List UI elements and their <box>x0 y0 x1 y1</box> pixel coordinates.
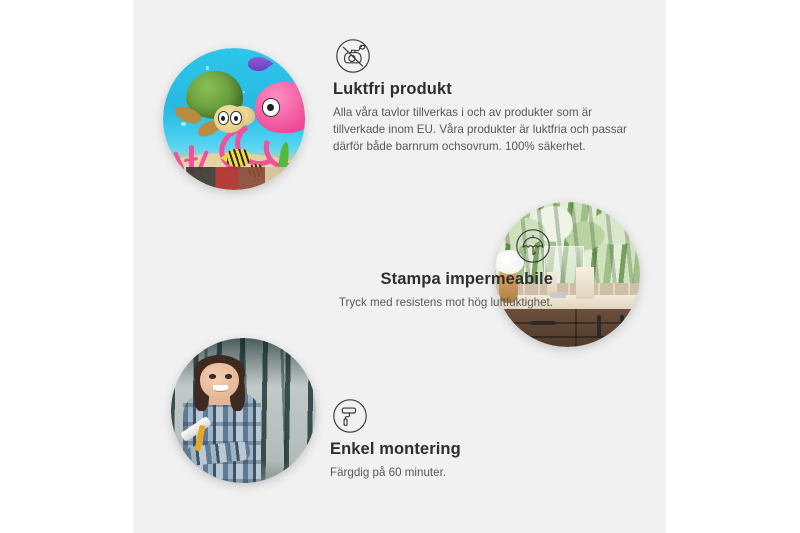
product-feature-panel: Luktfri produkt Alla våra tavlor tillver… <box>133 0 666 533</box>
umbrella-icon <box>515 228 551 264</box>
screenshot-root: Luktfri produkt Alla våra tavlor tillver… <box>0 0 800 533</box>
feature-description: Alla våra tavlor tillverkas i och av pro… <box>333 104 633 155</box>
woman-with-paint-roller-photo <box>171 338 316 483</box>
feature-title: Enkel montering <box>330 440 630 459</box>
underwater-cartoon-photo <box>163 48 305 190</box>
feature-title: Luktfri produkt <box>333 80 633 99</box>
feature-description: Tryck med resistens mot hög luftfuktighe… <box>218 294 553 311</box>
feature-block-waterproof: Stampa impermeabile Tryck med resistens … <box>218 228 553 311</box>
feature-block-odorless: Luktfri produkt Alla våra tavlor tillver… <box>333 38 633 155</box>
feature-block-easy-assembly: Enkel montering Färgdig på 60 minuter. <box>330 398 630 481</box>
feature-title: Stampa impermeabile <box>218 270 553 289</box>
feature-description: Färgdig på 60 minuter. <box>330 464 630 481</box>
paint-roller-icon <box>332 398 368 434</box>
no-scent-perfume-bottle-icon <box>335 38 371 74</box>
